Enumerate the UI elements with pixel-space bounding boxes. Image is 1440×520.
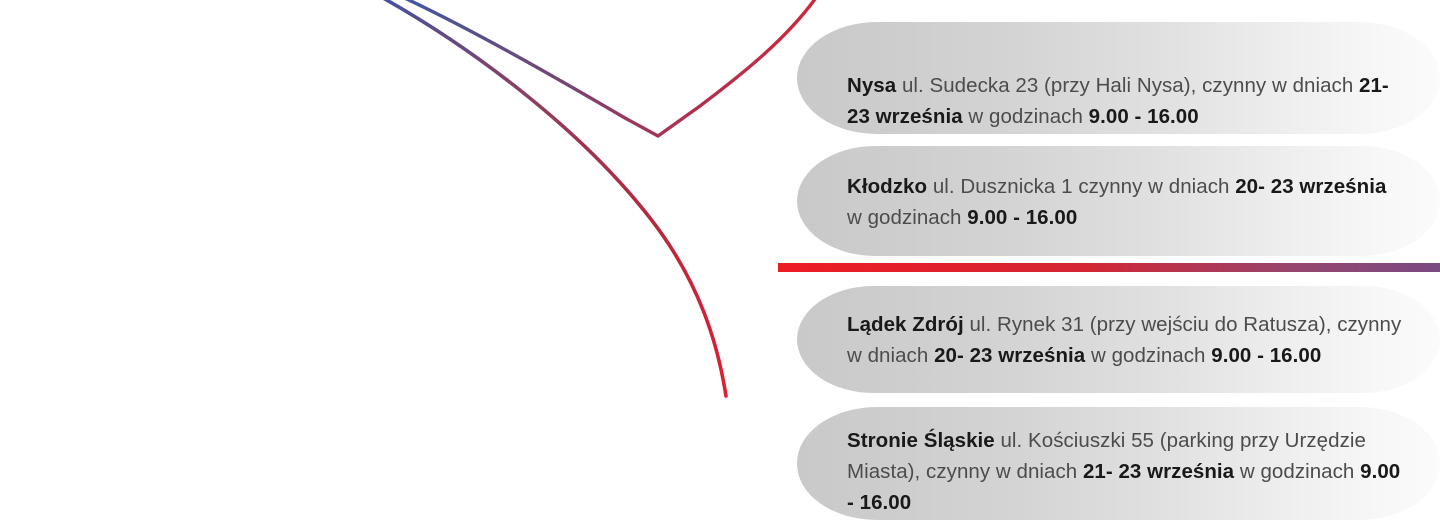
hours-prefix-text: w godzinach <box>847 206 967 229</box>
location-card-text: Lądek Zdrój ul. Rynek 31 (przy wejściu d… <box>847 309 1406 371</box>
location-card-stronie-slaskie[interactable]: Stronie Śląskie ul. Kościuszki 55 (parki… <box>797 407 1440 520</box>
city-name: Nysa <box>847 74 896 97</box>
city-name: Lądek Zdrój <box>847 313 964 336</box>
location-card-list: Nysa ul. Sudecka 23 (przy Hali Nysa), cz… <box>797 0 1440 520</box>
location-card-text: Stronie Śląskie ul. Kościuszki 55 (parki… <box>847 425 1406 518</box>
hours-text: 9.00 - 16.00 <box>1211 344 1321 367</box>
city-name: Stronie Śląskie <box>847 429 995 452</box>
hours-prefix-text: w godzinach <box>963 105 1089 128</box>
city-name: Kłodzko <box>847 175 927 198</box>
upper-swoosh-path <box>396 0 820 136</box>
location-card-ladek-zdroj[interactable]: Lądek Zdrój ul. Rynek 31 (przy wejściu d… <box>797 286 1440 393</box>
dates-text: 20- 23 września <box>1235 175 1386 198</box>
hours-text: 9.00 - 16.00 <box>1089 105 1199 128</box>
address-text: ul. Dusznicka 1 czynny w dniach <box>927 175 1235 198</box>
dates-text: 21- 23 września <box>1083 460 1234 483</box>
address-text: ul. Sudecka 23 (przy Hali Nysa), czynny … <box>896 74 1359 97</box>
dates-text: 20- 23 września <box>934 344 1085 367</box>
hours-prefix-text: w godzinach <box>1085 344 1211 367</box>
location-card-text: Kłodzko ul. Dusznicka 1 czynny w dniach … <box>847 171 1406 233</box>
location-card-klodzko[interactable]: Kłodzko ul. Dusznicka 1 czynny w dniach … <box>797 146 1440 256</box>
location-card-nysa[interactable]: Nysa ul. Sudecka 23 (przy Hali Nysa), cz… <box>797 22 1440 134</box>
location-card-text: Nysa ul. Sudecka 23 (przy Hali Nysa), cz… <box>847 70 1406 132</box>
hours-text: 9.00 - 16.00 <box>967 206 1077 229</box>
page-root: Nysa ul. Sudecka 23 (przy Hali Nysa), cz… <box>0 0 1440 520</box>
hours-prefix-text: w godzinach <box>1234 460 1360 483</box>
lower-swoosh-path <box>376 0 726 396</box>
